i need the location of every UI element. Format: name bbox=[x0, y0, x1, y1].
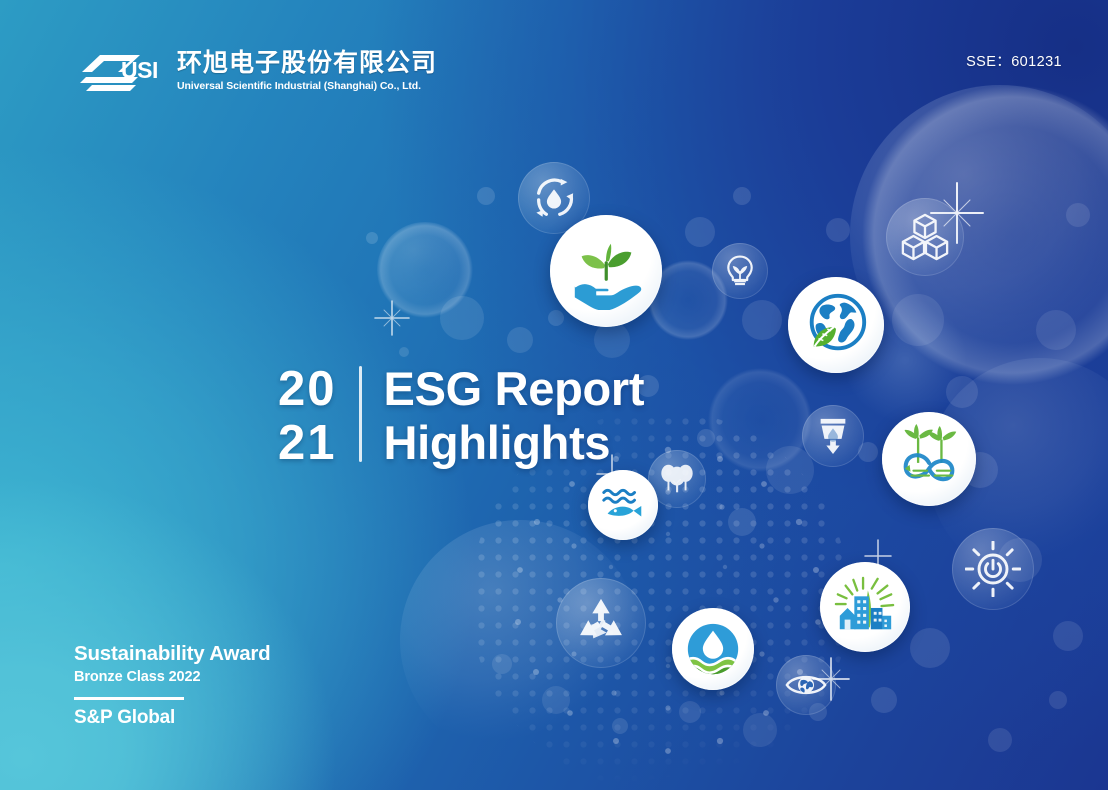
award-divider bbox=[74, 697, 184, 700]
water-filter-icon bbox=[802, 405, 864, 467]
fish-waves-icon bbox=[588, 470, 658, 540]
water-drop-land-icon bbox=[672, 608, 754, 690]
report-year: 20 21 bbox=[278, 362, 359, 470]
globe-leaf-icon bbox=[788, 277, 884, 373]
report-title-line1: ESG Report bbox=[384, 362, 645, 416]
cubes-icon bbox=[886, 198, 964, 276]
award-class: Bronze Class 2022 bbox=[74, 667, 271, 687]
report-year-line2: 21 bbox=[278, 416, 337, 470]
eye-globe-icon bbox=[776, 655, 836, 715]
report-title-line2: Highlights bbox=[384, 416, 645, 470]
lightbulb-leaf-icon bbox=[712, 243, 768, 299]
cover-title-block: 20 21 ESG Report Highlights bbox=[278, 362, 644, 470]
recycle-icon bbox=[556, 578, 646, 668]
award-brand: S&P Global bbox=[74, 707, 271, 729]
hand-plant-icon bbox=[550, 215, 662, 327]
sustainability-award-badge: Sustainability Award Bronze Class 2022 S… bbox=[74, 642, 271, 729]
esg-report-cover: USI 环旭电子股份有限公司 Universal Scientific Indu… bbox=[0, 0, 1108, 790]
award-title: Sustainability Award bbox=[74, 642, 271, 666]
green-city-icon bbox=[820, 562, 910, 652]
report-year-line1: 20 bbox=[278, 362, 337, 416]
report-title: ESG Report Highlights bbox=[362, 362, 645, 470]
wind-turbine-loop-icon bbox=[882, 412, 976, 506]
power-saving-icon bbox=[952, 528, 1034, 610]
